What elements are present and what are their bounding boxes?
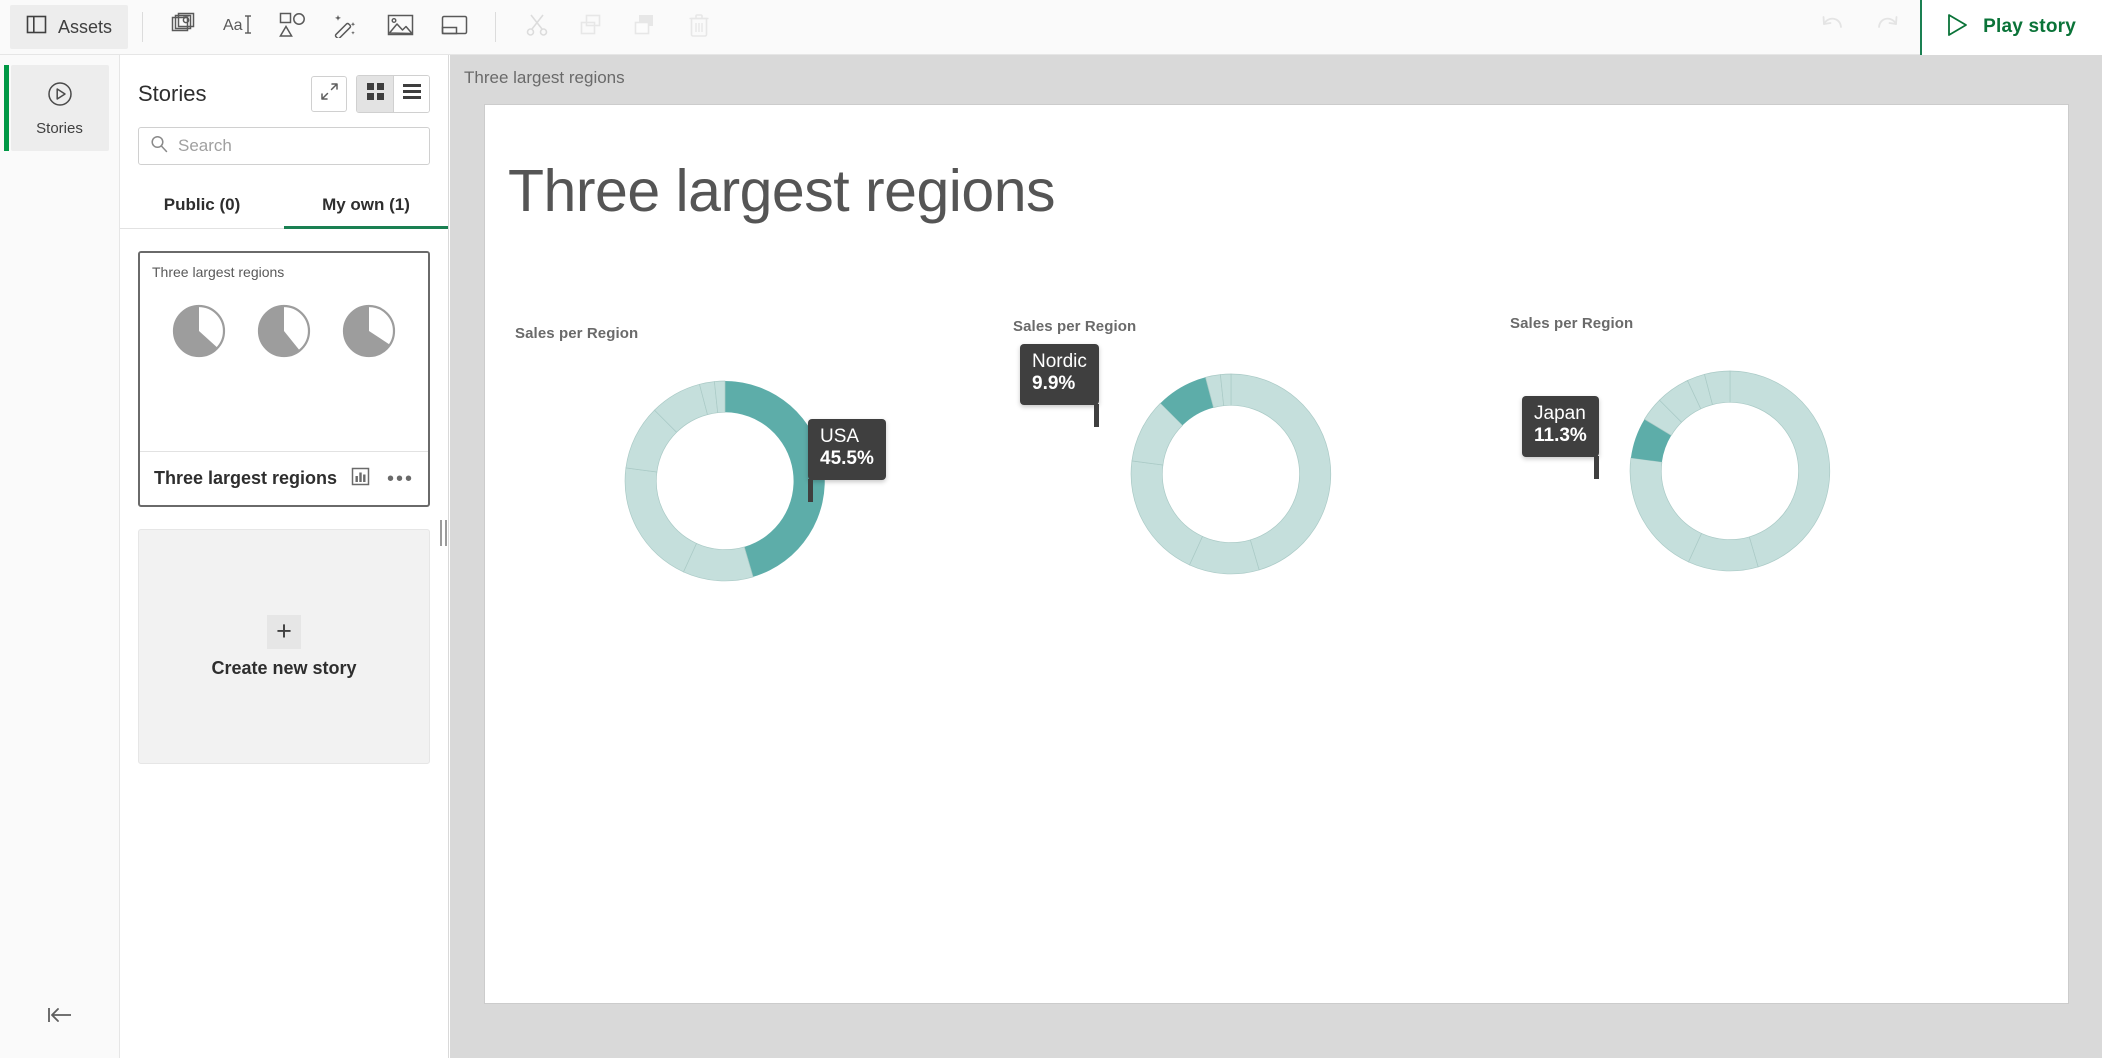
top-toolbar: Assets Aa xyxy=(0,0,2102,55)
drag-handle-bar xyxy=(440,520,442,546)
search-icon xyxy=(150,135,168,158)
text-aa-icon: Aa xyxy=(223,13,253,42)
svg-text:Aa: Aa xyxy=(223,17,243,34)
toolbar-divider-1 xyxy=(142,12,143,42)
paste-button[interactable] xyxy=(618,5,672,49)
donut-usa-svg xyxy=(595,356,855,606)
slide-background-button[interactable] xyxy=(427,5,481,49)
donut-slice-usa xyxy=(1730,371,1830,567)
redo-button[interactable] xyxy=(1860,5,1914,49)
donut-slice-usa xyxy=(1231,374,1331,570)
sidebar-item-stories[interactable]: Stories xyxy=(11,65,109,151)
expand-panel-button[interactable] xyxy=(311,76,347,112)
tooltip-value: 45.5% xyxy=(820,448,874,471)
panel-header-actions xyxy=(311,75,430,113)
panel-left-icon xyxy=(26,14,47,40)
stories-panel: Stories xyxy=(120,55,449,1058)
grid-view-icon xyxy=(367,83,384,105)
bar-chart-sheet-icon[interactable] xyxy=(350,466,371,492)
play-triangle-icon xyxy=(1944,12,1970,43)
tooltip-value: 9.9% xyxy=(1032,373,1087,396)
play-story-label: Play story xyxy=(1983,16,2076,38)
story-thumb-title: Three largest regions xyxy=(152,264,284,280)
page-title: Stories xyxy=(138,81,206,107)
donut-slice-germany xyxy=(625,468,696,572)
play-circle-icon xyxy=(46,80,74,113)
stories-panel-header: Stories xyxy=(120,55,448,113)
donut-chart-nordic[interactable]: Sales per Region Nordic 9.9% xyxy=(1003,318,1463,618)
create-new-story-label: Create new story xyxy=(211,658,356,679)
donut-nordic-title: Sales per Region xyxy=(1013,318,1463,335)
panel-resize-handle[interactable] xyxy=(437,520,449,546)
trash-icon xyxy=(688,13,710,42)
tab-my-own[interactable]: My own (1) xyxy=(284,183,448,228)
tooltip-value: 11.3% xyxy=(1534,425,1587,448)
story-canvas-area: Three largest regions Three largest regi… xyxy=(450,55,2102,1058)
donut-usa-title: Sales per Region xyxy=(515,325,965,342)
sidebar-item-label: Stories xyxy=(36,120,83,137)
tooltip-label: Japan xyxy=(1534,403,1587,425)
drag-handle-bar xyxy=(445,520,447,546)
image-icon xyxy=(387,13,414,42)
copy-icon xyxy=(579,14,603,41)
undo-button[interactable] xyxy=(1806,5,1860,49)
tab-public[interactable]: Public (0) xyxy=(120,183,284,228)
grid-view-button[interactable] xyxy=(357,76,393,112)
media-tool-button[interactable] xyxy=(373,5,427,49)
snapshot-library-button[interactable] xyxy=(157,5,211,49)
slide-bg-icon xyxy=(441,14,468,41)
donut-usa-graphic: USA 45.5% xyxy=(505,356,965,611)
story-slide[interactable]: Three largest regions Sales per Region xyxy=(485,105,2068,1003)
toolbar-divider-2 xyxy=(495,12,496,42)
search-wrapper xyxy=(120,113,448,165)
stories-card-list: Three largest regions xyxy=(120,229,448,764)
view-mode-toggle xyxy=(356,75,430,113)
donut-japan-graphic: Japan 11.3% xyxy=(1500,346,1960,601)
create-new-story-card[interactable]: + Create new story xyxy=(138,529,430,764)
expand-diagonal-icon xyxy=(320,82,339,106)
shapes-tool-button[interactable] xyxy=(265,5,319,49)
undo-redo-group xyxy=(1806,5,1914,49)
donut-japan-title: Sales per Region xyxy=(1510,315,1960,332)
list-view-button[interactable] xyxy=(393,76,429,112)
list-view-icon xyxy=(403,84,421,104)
story-card-actions: ••• xyxy=(350,466,414,492)
tooltip-label: USA xyxy=(820,426,874,448)
toolbar-edit-tools xyxy=(510,5,726,49)
donut-nordic-svg xyxy=(1101,349,1361,599)
redo-arrow-icon xyxy=(1873,12,1901,43)
magic-wand-icon xyxy=(333,12,359,43)
donut-nordic-graphic: Nordic 9.9% xyxy=(1003,349,1463,604)
donut-usa-tooltip: USA 45.5% xyxy=(808,419,886,480)
play-story-button[interactable]: Play story xyxy=(1920,0,2102,55)
story-card-name: Three largest regions xyxy=(154,468,337,489)
delete-button[interactable] xyxy=(672,5,726,49)
donut-chart-usa[interactable]: Sales per Region xyxy=(505,325,965,625)
donut-chart-japan[interactable]: Sales per Region Japan xyxy=(1500,315,1960,615)
assets-button[interactable]: Assets xyxy=(10,5,128,49)
rail-collapse-button[interactable] xyxy=(0,1005,120,1030)
story-thumb-pies xyxy=(140,303,428,364)
search-box[interactable] xyxy=(138,127,430,165)
assets-button-label: Assets xyxy=(58,17,112,38)
thumb-pie-icon xyxy=(256,303,312,364)
undo-arrow-icon xyxy=(1819,12,1847,43)
donut-slice-germany xyxy=(1630,458,1701,562)
toolbar-insert-tools: Aa xyxy=(157,5,481,49)
search-input[interactable] xyxy=(178,136,418,156)
stories-tabs: Public (0) My own (1) xyxy=(120,183,448,229)
breadcrumb: Three largest regions xyxy=(464,68,625,88)
donut-japan-tooltip: Japan 11.3% xyxy=(1522,396,1599,457)
plus-icon: + xyxy=(267,615,301,649)
scissors-icon xyxy=(525,13,549,42)
left-rail: Stories xyxy=(0,55,120,1058)
slide-title-text[interactable]: Three largest regions xyxy=(508,157,1055,225)
thumb-pie-icon xyxy=(341,303,397,364)
effects-tool-button[interactable] xyxy=(319,5,373,49)
donut-nordic-tooltip: Nordic 9.9% xyxy=(1020,344,1099,405)
text-tool-button[interactable]: Aa xyxy=(211,5,265,49)
paste-icon xyxy=(633,14,657,41)
tooltip-label: Nordic xyxy=(1032,351,1087,373)
donut-japan-svg xyxy=(1600,346,1860,596)
copy-button[interactable] xyxy=(564,5,618,49)
story-card[interactable]: Three largest regions xyxy=(138,251,430,507)
cut-button[interactable] xyxy=(510,5,564,49)
story-card-footer: Three largest regions ••• xyxy=(140,451,428,505)
donut-slice-germany xyxy=(1131,461,1202,565)
story-card-thumbnail: Three largest regions xyxy=(140,253,428,451)
camera-stack-icon xyxy=(171,12,197,43)
thumb-pie-icon xyxy=(171,303,227,364)
shapes-icon xyxy=(279,12,306,43)
ellipsis-icon[interactable]: ••• xyxy=(387,474,414,484)
collapse-left-icon xyxy=(45,1005,75,1030)
